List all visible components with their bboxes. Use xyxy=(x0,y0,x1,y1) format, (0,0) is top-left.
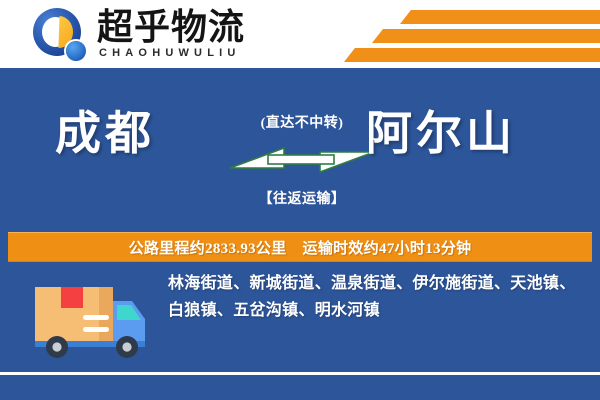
route-middle: (直达不中转) 【往返运输】 xyxy=(228,108,376,213)
duration-text: 运输时效约47小时13分钟 xyxy=(303,241,472,257)
orange-speed-stripes-icon xyxy=(342,6,600,64)
brand-name-en: CHAOHUWULIU xyxy=(99,47,241,59)
logistics-route-banner: 超乎物流 CHAOHUWULIU 成都 (直达不中转) 【往返运 xyxy=(0,0,600,400)
banner-body: 成都 (直达不中转) 【往返运输】 阿尔山 公路里程约2833.93公里运输时效… xyxy=(0,68,600,400)
delivery-truck-icon xyxy=(33,275,155,361)
round-trip-note: 【往返运输】 xyxy=(228,188,376,208)
banner-header: 超乎物流 CHAOHUWULIU xyxy=(0,0,600,68)
destination-city: 阿尔山 xyxy=(366,104,516,164)
direct-shipping-note: (直达不中转) xyxy=(228,112,376,132)
stripe-bottom xyxy=(344,48,600,62)
route-info-bar: 公路里程约2833.93公里运输时效约47小时13分钟 xyxy=(8,232,592,262)
stripe-top xyxy=(400,10,600,24)
origin-city: 成都 xyxy=(55,104,155,164)
info-bar-content: 公路里程约2833.93公里运输时效约47小时13分钟 xyxy=(129,237,472,258)
bottom-divider xyxy=(0,372,600,375)
distance-text: 公路里程约2833.93公里 xyxy=(129,241,287,257)
chaohu-logistics-q-logo-icon xyxy=(33,8,87,62)
brand-name-cn: 超乎物流 xyxy=(97,5,245,49)
stripe-middle xyxy=(372,29,600,43)
bidirectional-arrow-icon xyxy=(228,138,376,178)
coverage-section: 林海街道、新城街道、温泉街道、伊尔施街道、天池镇、白狼镇、五岔沟镇、明水河镇 xyxy=(0,268,600,372)
logo-accent-dot xyxy=(66,41,86,61)
coverage-areas-text: 林海街道、新城街道、温泉街道、伊尔施街道、天池镇、白狼镇、五岔沟镇、明水河镇 xyxy=(168,270,576,324)
route-section: 成都 (直达不中转) 【往返运输】 阿尔山 xyxy=(0,68,600,228)
